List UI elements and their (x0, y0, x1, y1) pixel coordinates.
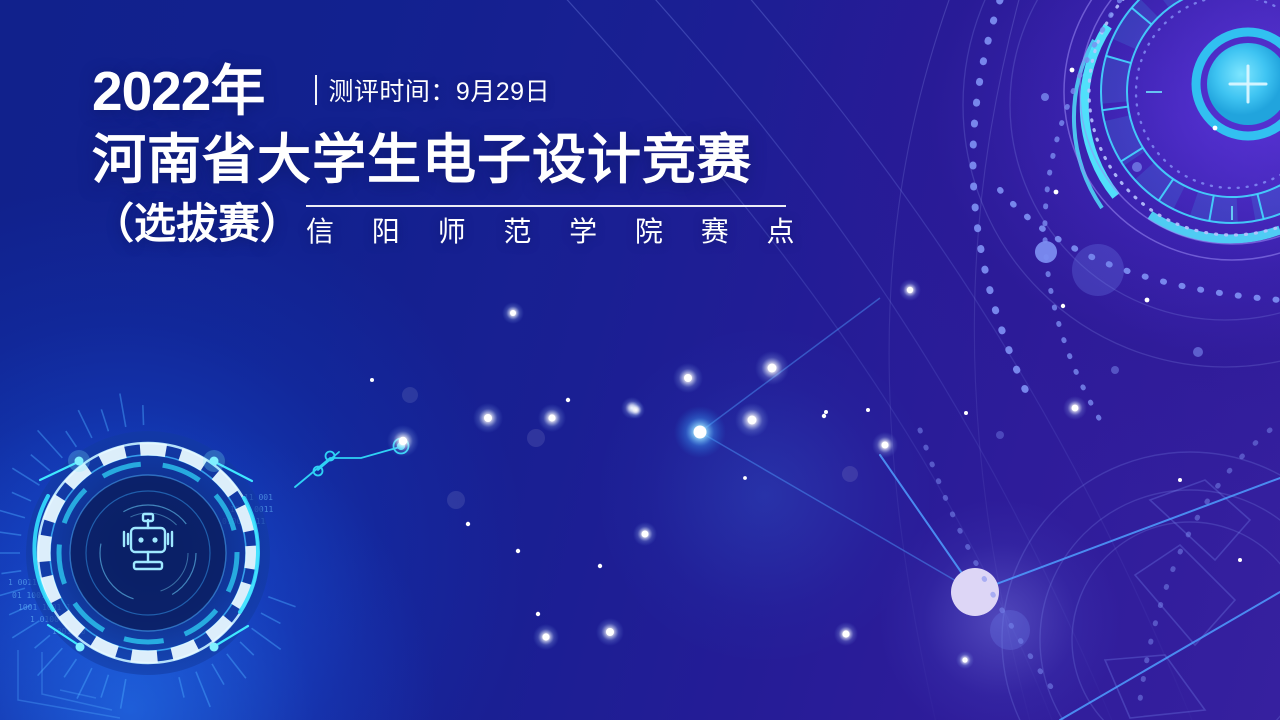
date-row: 测评时间：9月29日 (315, 72, 550, 108)
year-row: 2022年 测评时间：9月29日 (92, 62, 872, 124)
venue-divider-rule (306, 205, 786, 207)
main-title: 河南省大学生电子设计竞赛 (92, 128, 872, 192)
venue-label: 信 阳 师 范 学 院 赛 点 (306, 216, 809, 248)
category-label: （选拔赛） (92, 200, 302, 248)
poster-canvas: 1001 1001 1 1 0100 11 01 1001 1001 00 1 … (0, 0, 1280, 720)
year-label: 2022年 (92, 62, 264, 120)
headline-block: 2022年 测评时间：9月29日 河南省大学生电子设计竞赛 （选拔赛） 信 阳 … (92, 62, 872, 248)
subtitle-row: （选拔赛） 信 阳 师 范 学 院 赛 点 (92, 200, 872, 248)
evaluation-date-label: 测评时间：9月29日 (328, 72, 550, 108)
venue-block: 信 阳 师 范 学 院 赛 点 (306, 201, 809, 248)
vertical-bar-divider (315, 75, 317, 105)
